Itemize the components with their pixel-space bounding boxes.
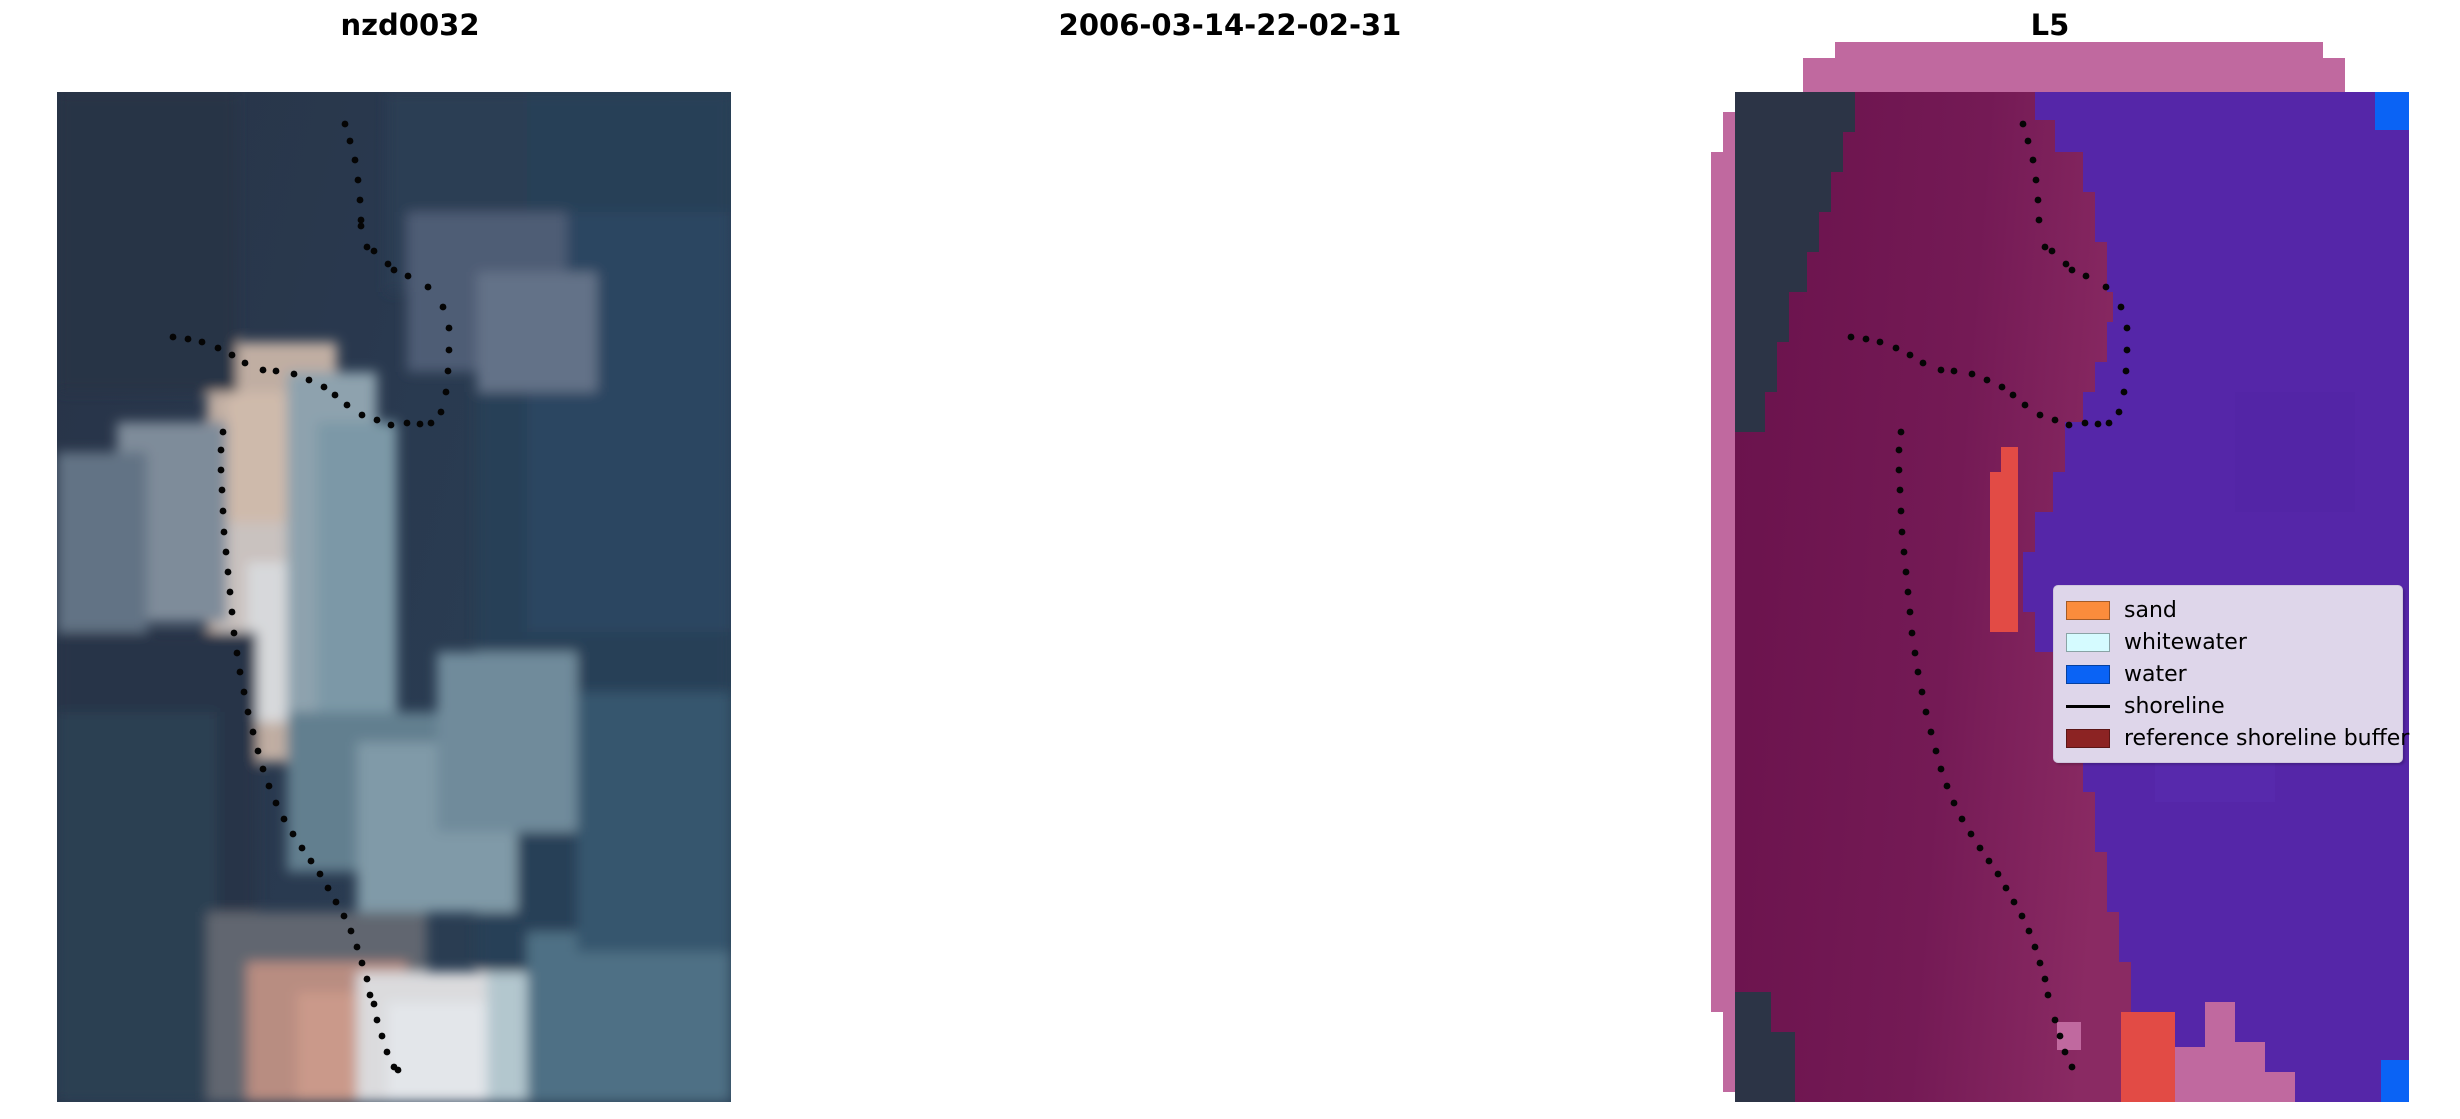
panel-2-title: 2006-03-14-22-02-31: [820, 8, 1640, 42]
panel-classification: 2006-03-14-22-02-31: [820, 0, 1640, 1119]
figure-canvas: nzd0032: [0, 0, 2460, 1119]
panel-1-title: nzd0032: [0, 8, 820, 42]
panel-l5: L5: [1640, 0, 2460, 1119]
satellite-raster: [57, 92, 731, 1102]
axes-1-clip: [57, 92, 731, 1102]
panel-nzd0032: nzd0032: [0, 0, 820, 1119]
panel-3-title: L5: [1640, 8, 2460, 42]
axes-satellite-image[interactable]: [57, 92, 731, 1102]
